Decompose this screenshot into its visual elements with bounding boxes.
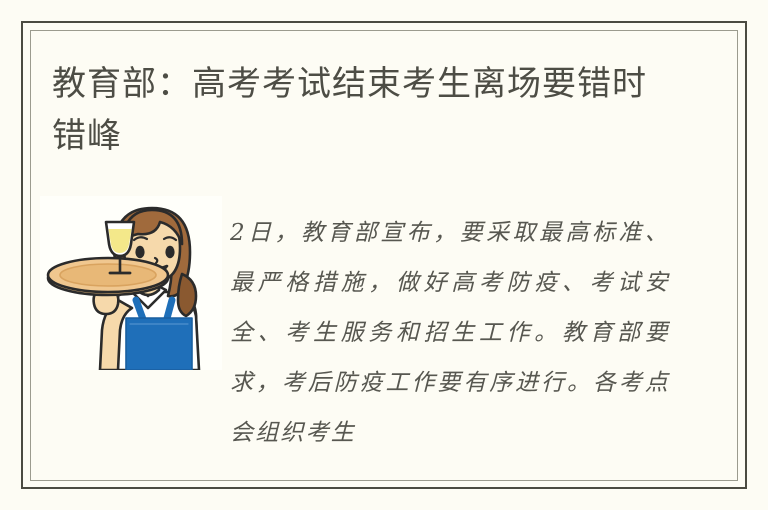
content-area: 2日，教育部宣布，要采取最高标准、最严格措施，做好高考防疫、考试安全、考生服务和… (40, 196, 680, 466)
page-title: 教育部：高考考试结束考生离场要错时错峰 (52, 58, 672, 162)
waitress-illustration-svg (40, 196, 222, 370)
waitress-with-tray-illustration (40, 196, 222, 370)
article-body: 2日，教育部宣布，要采取最高标准、最严格措施，做好高考防疫、考试安全、考生服务和… (230, 208, 670, 470)
article-card: 教育部：高考考试结束考生离场要错时错峰 (0, 0, 768, 510)
